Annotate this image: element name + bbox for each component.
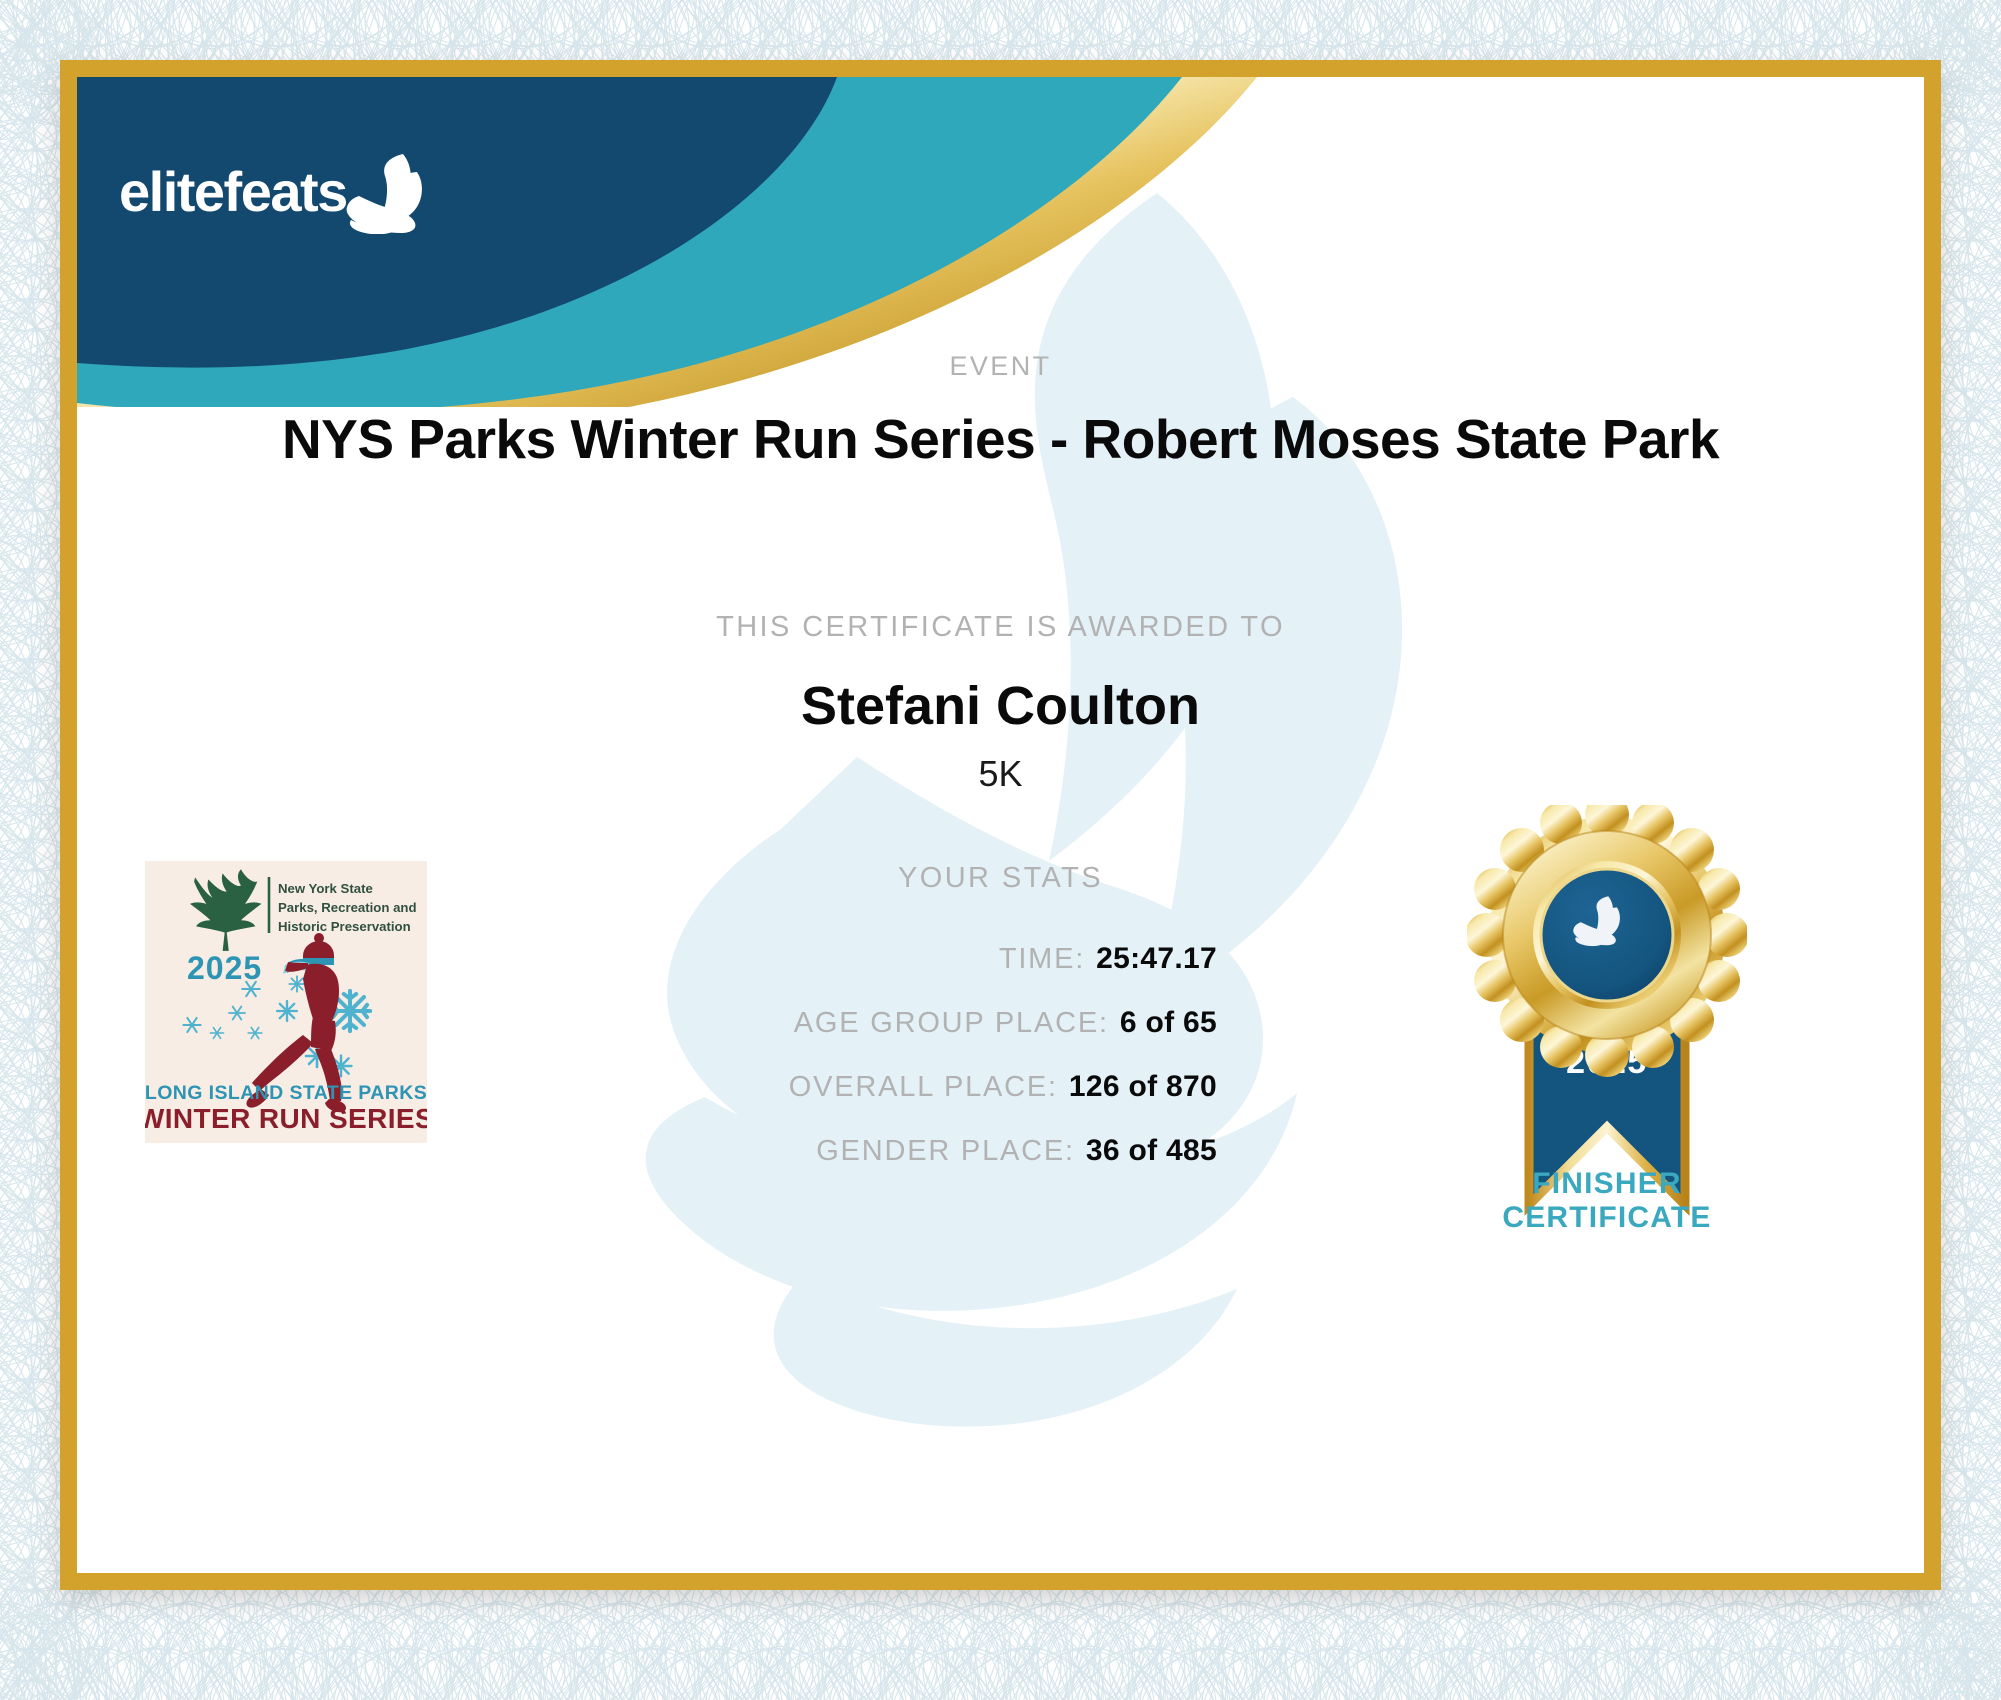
event-title: NYS Parks Winter Run Series - Robert Mos…	[77, 407, 1924, 471]
agency-line-2: Parks, Recreation and	[278, 900, 417, 915]
brand-lockup: elitefeats	[119, 152, 433, 220]
series-line-1: LONG ISLAND STATE PARKS	[145, 1082, 427, 1104]
stat-row-age-group-place: AGE GROUP PLACE: 6 of 65	[407, 1006, 1217, 1040]
stat-key: OVERALL PLACE:	[789, 1071, 1058, 1104]
finisher-caption: FINISHER CERTIFICATE	[1407, 1167, 1807, 1234]
certificate-frame: elitefeats EVENT NYS Parks Winter Run Se…	[60, 60, 1941, 1590]
race-distance: 5K	[77, 753, 1924, 795]
series-line-2: WINTER RUN SERIES	[145, 1103, 427, 1134]
stat-row-time: TIME: 25:47.17	[407, 942, 1217, 976]
stat-row-overall-place: OVERALL PLACE: 126 of 870	[407, 1070, 1217, 1104]
winged-foot-icon	[343, 152, 433, 234]
agency-line-3: Historic Preservation	[278, 919, 411, 934]
stat-value: 6 of 65	[1120, 1006, 1217, 1040]
race-series-logo: New York State Parks, Recreation and His…	[145, 861, 427, 1143]
awarded-to-label: THIS CERTIFICATE IS AWARDED TO	[77, 611, 1924, 644]
finisher-caption-line-1: FINISHER	[1407, 1167, 1807, 1201]
stat-key: AGE GROUP PLACE:	[794, 1007, 1109, 1040]
finisher-caption-line-2: CERTIFICATE	[1407, 1201, 1807, 1235]
race-logo-art: New York State Parks, Recreation and His…	[145, 861, 427, 1143]
agency-line-1: New York State	[278, 881, 373, 896]
logo-year: 2025	[187, 950, 262, 986]
stats-list: TIME: 25:47.17 AGE GROUP PLACE: 6 of 65 …	[407, 942, 1217, 1198]
stat-key: TIME:	[999, 943, 1085, 976]
stat-value: 36 of 485	[1086, 1134, 1217, 1168]
stat-value: 25:47.17	[1096, 942, 1217, 976]
stat-row-gender-place: GENDER PLACE: 36 of 485	[407, 1134, 1217, 1168]
event-label: EVENT	[77, 351, 1924, 382]
recipient-name: Stefani Coulton	[77, 675, 1924, 737]
stat-key: GENDER PLACE:	[816, 1135, 1075, 1168]
stat-value: 126 of 870	[1069, 1070, 1217, 1104]
brand-name: elitefeats	[119, 164, 347, 220]
